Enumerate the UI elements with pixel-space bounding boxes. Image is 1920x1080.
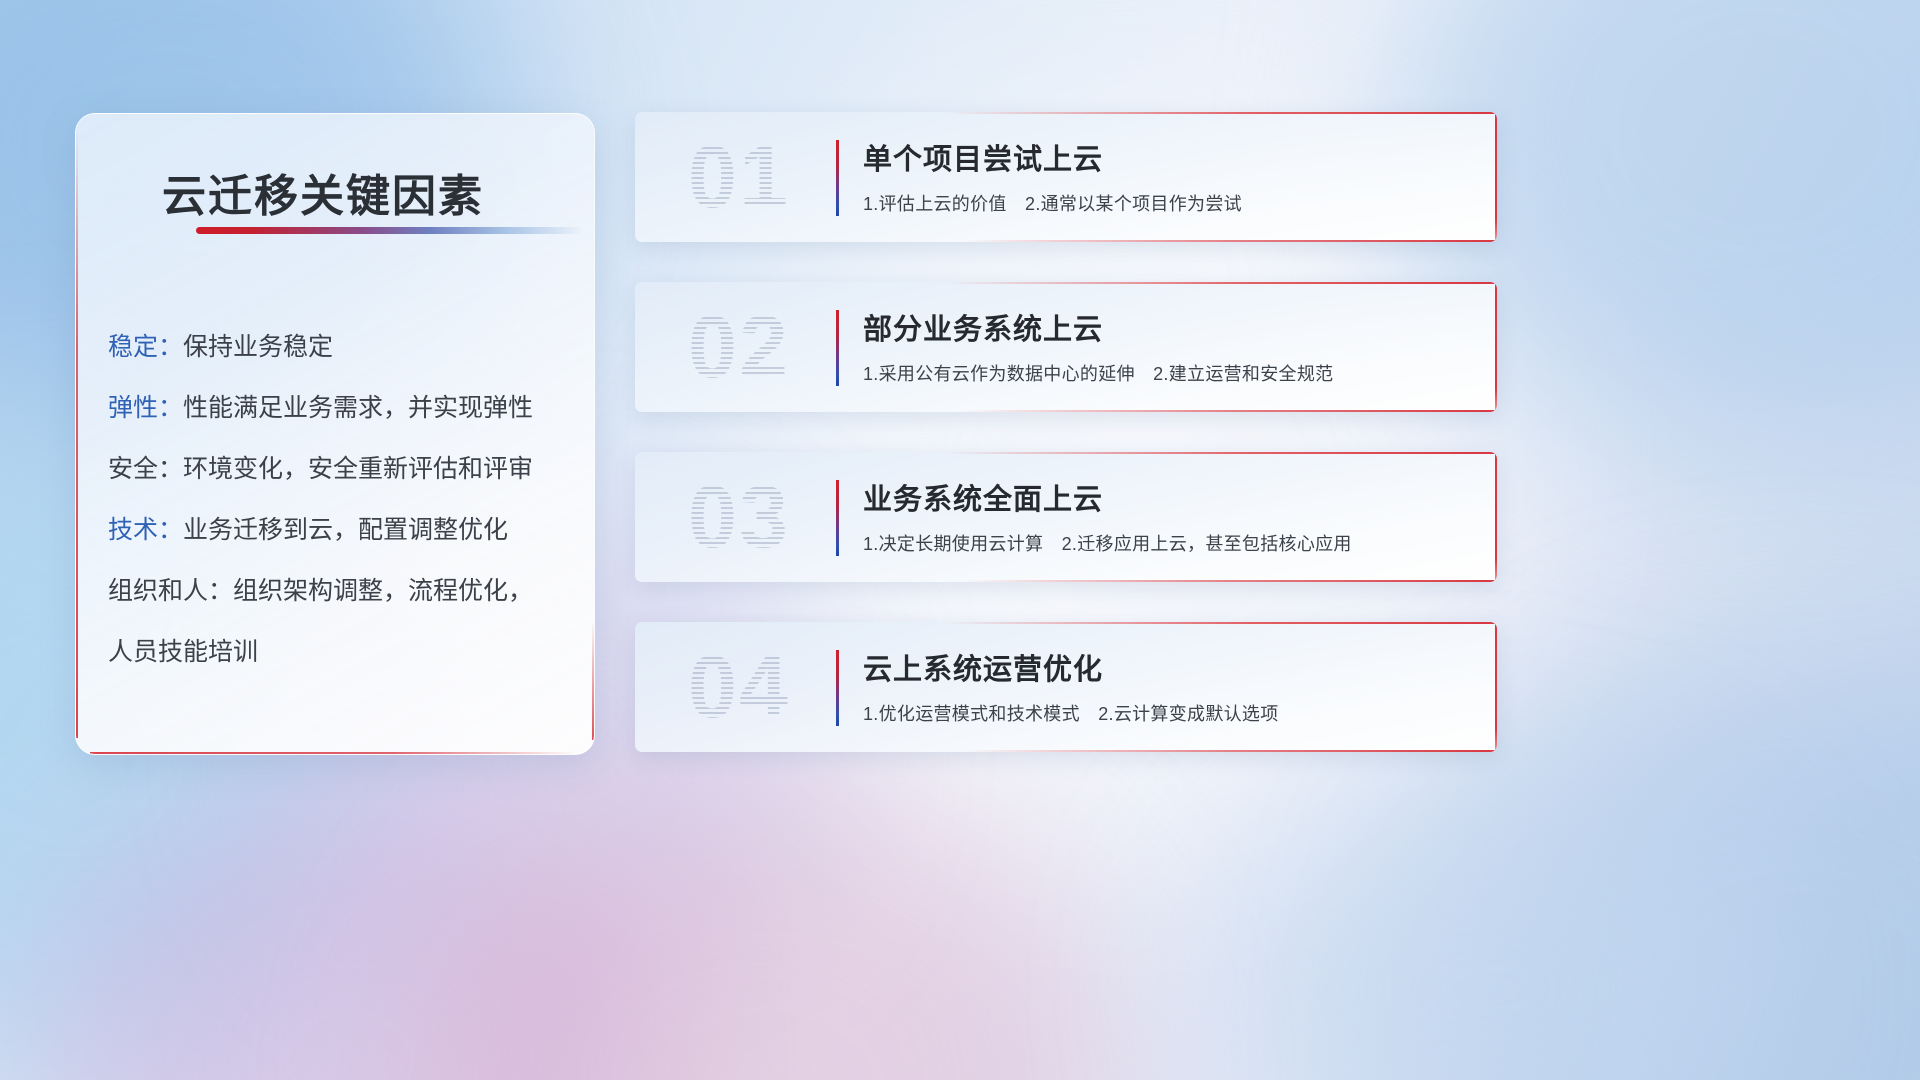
card-divider-bar [836,650,839,726]
key-factor-row: 人员技能培训 [108,619,570,680]
card-right-accent [1495,112,1497,242]
stage-title: 单个项目尝试上云 [863,136,1103,178]
key-factor-row: 组织和人：组织架构调整，流程优化， [108,558,570,619]
card-bottom-accent [963,750,1497,752]
key-factor-label: 安全： [108,449,183,485]
card-top-accent [945,282,1497,284]
key-factor-label: 组织和人： [108,571,233,607]
page-title: 云迁移关键因素 [162,160,484,224]
key-factor-row: 弹性：性能满足业务需求，并实现弹性 [108,375,570,436]
panel-left-accent [76,130,78,738]
stage-number-watermark: 03 [659,462,819,572]
key-factors-list: 稳定：保持业务稳定弹性：性能满足业务需求，并实现弹性安全：环境变化，安全重新评估… [108,314,570,680]
stage-card[interactable]: 03业务系统全面上云1.决定长期使用云计算 2.迁移应用上云，甚至包括核心应用 [635,452,1497,582]
card-right-accent [1495,622,1497,752]
panel-right-accent [592,620,594,740]
key-factor-row: 稳定：保持业务稳定 [108,314,570,375]
key-factor-label: 技术： [108,510,183,546]
stage-title: 业务系统全面上云 [863,476,1103,518]
card-bottom-accent [963,240,1497,242]
stage-card[interactable]: 04云上系统运营优化1.优化运营模式和技术模式 2.云计算变成默认选项 [635,622,1497,752]
key-factor-value: 人员技能培训 [108,632,258,668]
card-divider-bar [836,480,839,556]
card-divider-bar [836,310,839,386]
stage-number-watermark: 01 [659,122,819,232]
key-factor-label: 稳定： [108,327,183,363]
card-right-accent [1495,452,1497,582]
card-top-accent [945,452,1497,454]
key-factor-label: 弹性： [108,388,183,424]
key-factors-panel: 云迁移关键因素 稳定：保持业务稳定弹性：性能满足业务需求，并实现弹性安全：环境变… [75,113,595,755]
panel-bottom-accent [90,752,578,754]
stage-card[interactable]: 02部分业务系统上云1.采用公有云作为数据中心的延伸 2.建立运营和安全规范 [635,282,1497,412]
stage-title: 云上系统运营优化 [863,646,1103,688]
stage-subtitle: 1.评估上云的价值 2.通常以某个项目作为尝试 [863,190,1242,216]
card-right-accent [1495,282,1497,412]
title-underline-gradient [196,227,584,234]
cloud-migration-stages: 01单个项目尝试上云1.评估上云的价值 2.通常以某个项目作为尝试02部分业务系… [635,112,1497,792]
card-top-accent [945,112,1497,114]
key-factor-value: 保持业务稳定 [183,327,333,363]
stage-number-watermark: 02 [659,292,819,402]
card-divider-bar [836,140,839,216]
key-factor-value: 组织架构调整，流程优化， [233,571,533,607]
stage-subtitle: 1.决定长期使用云计算 2.迁移应用上云，甚至包括核心应用 [863,530,1352,556]
stage-card[interactable]: 01单个项目尝试上云1.评估上云的价值 2.通常以某个项目作为尝试 [635,112,1497,242]
stage-number-watermark: 04 [659,632,819,742]
card-bottom-accent [963,410,1497,412]
key-factor-value: 业务迁移到云，配置调整优化 [183,510,508,546]
card-top-accent [945,622,1497,624]
card-bottom-accent [963,580,1497,582]
key-factor-row: 安全：环境变化，安全重新评估和评审 [108,436,570,497]
key-factor-row: 技术：业务迁移到云，配置调整优化 [108,497,570,558]
key-factor-value: 环境变化，安全重新评估和评审 [183,449,533,485]
key-factor-value: 性能满足业务需求，并实现弹性 [183,388,533,424]
stage-subtitle: 1.优化运营模式和技术模式 2.云计算变成默认选项 [863,700,1279,726]
stage-title: 部分业务系统上云 [863,306,1103,348]
stage-subtitle: 1.采用公有云作为数据中心的延伸 2.建立运营和安全规范 [863,360,1333,386]
